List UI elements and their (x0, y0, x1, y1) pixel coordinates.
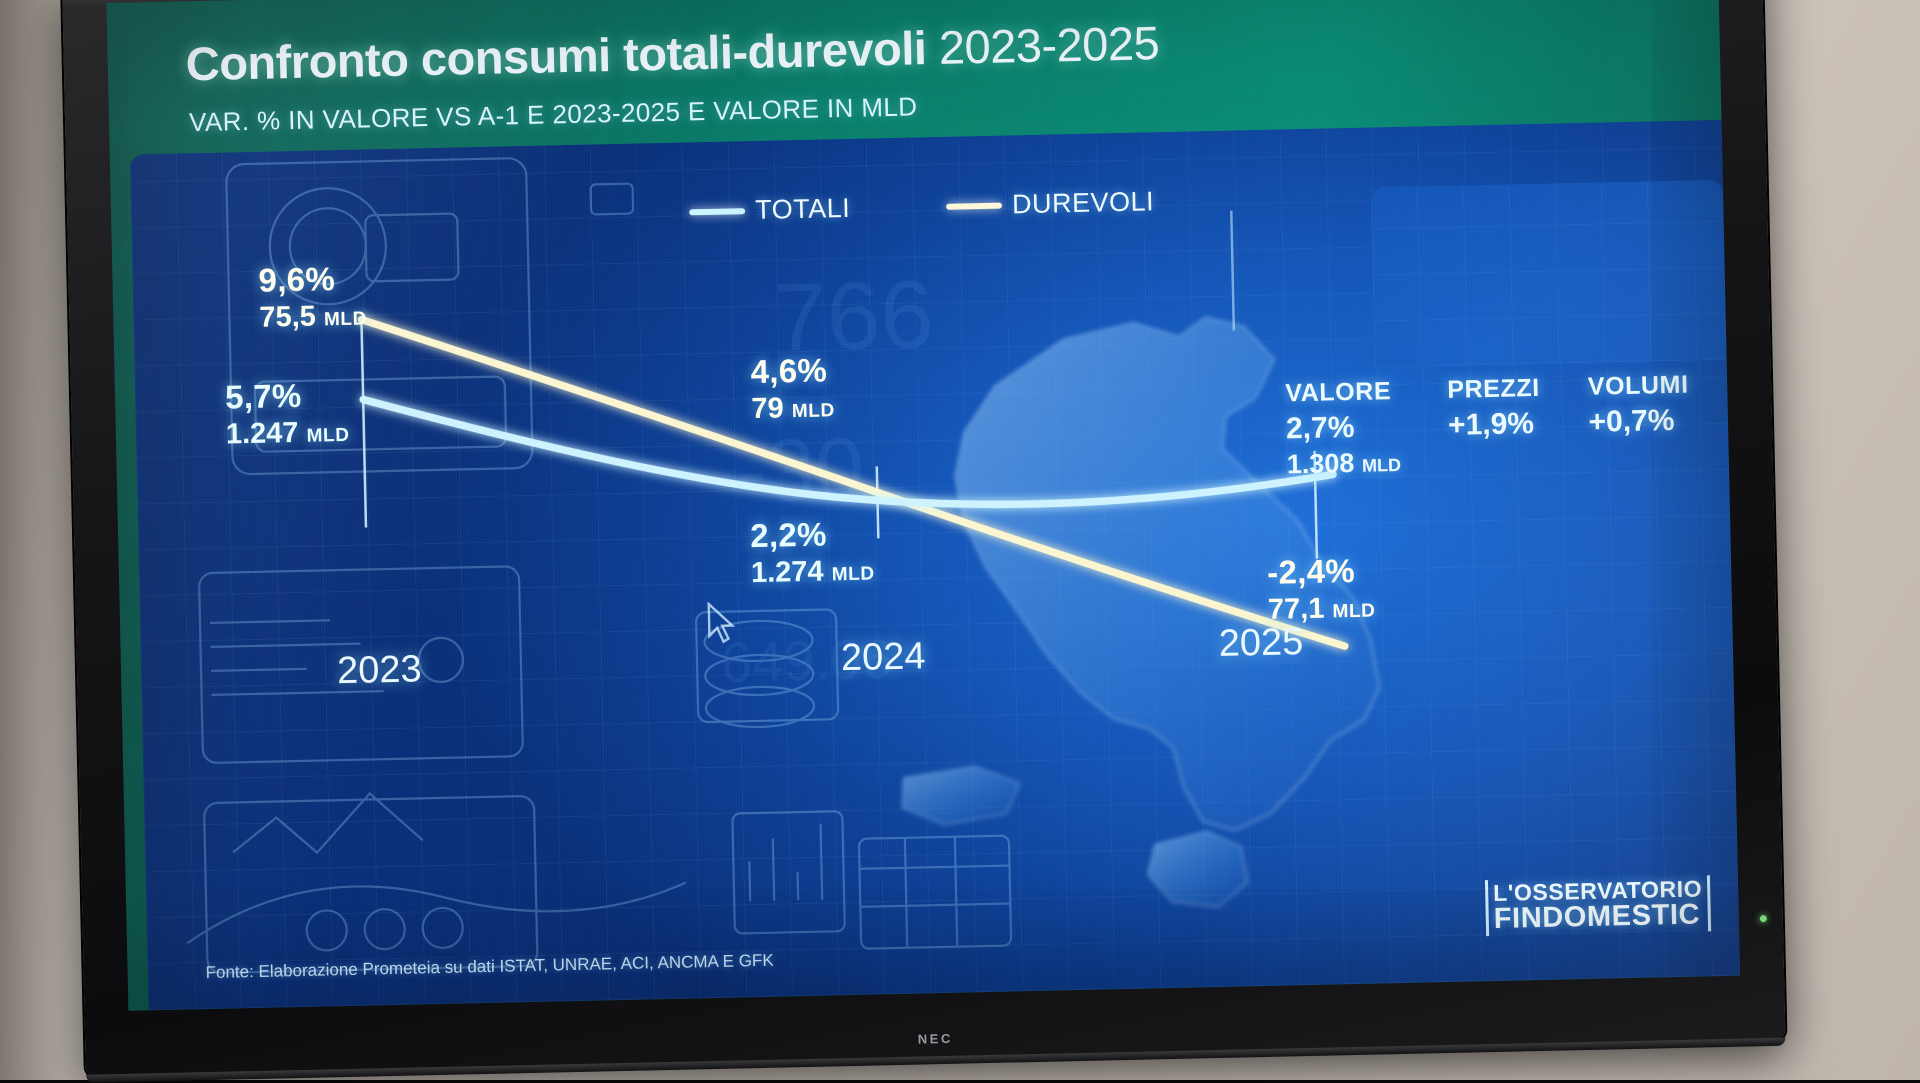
durevoli-2024-pct: 4,6% (750, 351, 834, 391)
tick-2024-upper (1231, 211, 1234, 331)
axis-label-2024: 2024 (840, 635, 925, 680)
screen-surface: 766 -30 649.06 (106, 0, 1740, 1011)
axis-label-2025: 2025 (1218, 621, 1303, 666)
legend-label-durevoli: DUREVOLI (1012, 186, 1155, 220)
breakdown-valore-value: 2,7% (1286, 410, 1401, 446)
breakdown-prezzi-value: +1,9% (1448, 407, 1541, 443)
findomestic-observatory-logo: L'OSSERVATORIO FINDOMESTIC (1491, 871, 1705, 941)
mouse-cursor-icon (706, 601, 737, 646)
totali-2023-pct: 5,7% (225, 376, 349, 417)
breakdown-item-prezzi: PREZZI +1,9% (1447, 374, 1541, 443)
totali-2023-value: 1.247 MLD (226, 416, 350, 452)
breakdown-volumi-value: +0,7% (1588, 404, 1690, 440)
totali-2024-pct: 2,2% (750, 514, 874, 555)
label-totali-2023: 5,7% 1.247 MLD (225, 376, 350, 452)
breakdown-item-volumi: VOLUMI +0,7% (1587, 371, 1689, 440)
totali-2024-value: 1.274 MLD (751, 554, 875, 590)
breakdown-item-valore: VALORE 2,7% 1.308 MLD (1285, 377, 1401, 480)
breakdown-valore-header: VALORE (1285, 377, 1400, 408)
legend-swatch-durevoli (946, 202, 1002, 209)
durevoli-line (361, 298, 1344, 667)
label-durevoli-2025: -2,4% 77,1 MLD (1267, 552, 1376, 627)
breakdown-prezzi-header: PREZZI (1447, 374, 1540, 405)
legend-item-durevoli: DUREVOLI (946, 186, 1155, 222)
axis-label-2023: 2023 (337, 648, 422, 693)
durevoli-2023-value: 75,5 MLD (259, 299, 367, 334)
totali-line (363, 378, 1333, 518)
nec-display-monitor: NEC (62, 0, 1785, 1077)
slide-title-years: 2023-2025 (938, 16, 1159, 74)
label-durevoli-2024: 4,6% 79 MLD (750, 351, 835, 426)
breakdown-valore-sub: 1.308 MLD (1286, 447, 1401, 480)
durevoli-2025-pct: -2,4% (1267, 552, 1375, 592)
label-totali-2024: 2,2% 1.274 MLD (750, 514, 875, 590)
breakdown-2025-group: VALORE 2,7% 1.308 MLD PREZZI +1,9% VOLUM… (1285, 371, 1691, 481)
logo-line-2: FINDOMESTIC (1494, 901, 1704, 935)
legend-swatch-totali (689, 208, 745, 215)
monitor-brand-label: NEC (918, 1031, 953, 1047)
legend-label-totali: TOTALI (755, 193, 851, 226)
durevoli-2023-pct: 9,6% (258, 259, 366, 299)
legend-item-totali: TOTALI (689, 193, 851, 228)
breakdown-volumi-header: VOLUMI (1587, 371, 1688, 402)
tick-2023 (361, 318, 366, 528)
label-durevoli-2023: 9,6% 75,5 MLD (258, 259, 367, 334)
durevoli-2024-value: 79 MLD (751, 391, 835, 426)
